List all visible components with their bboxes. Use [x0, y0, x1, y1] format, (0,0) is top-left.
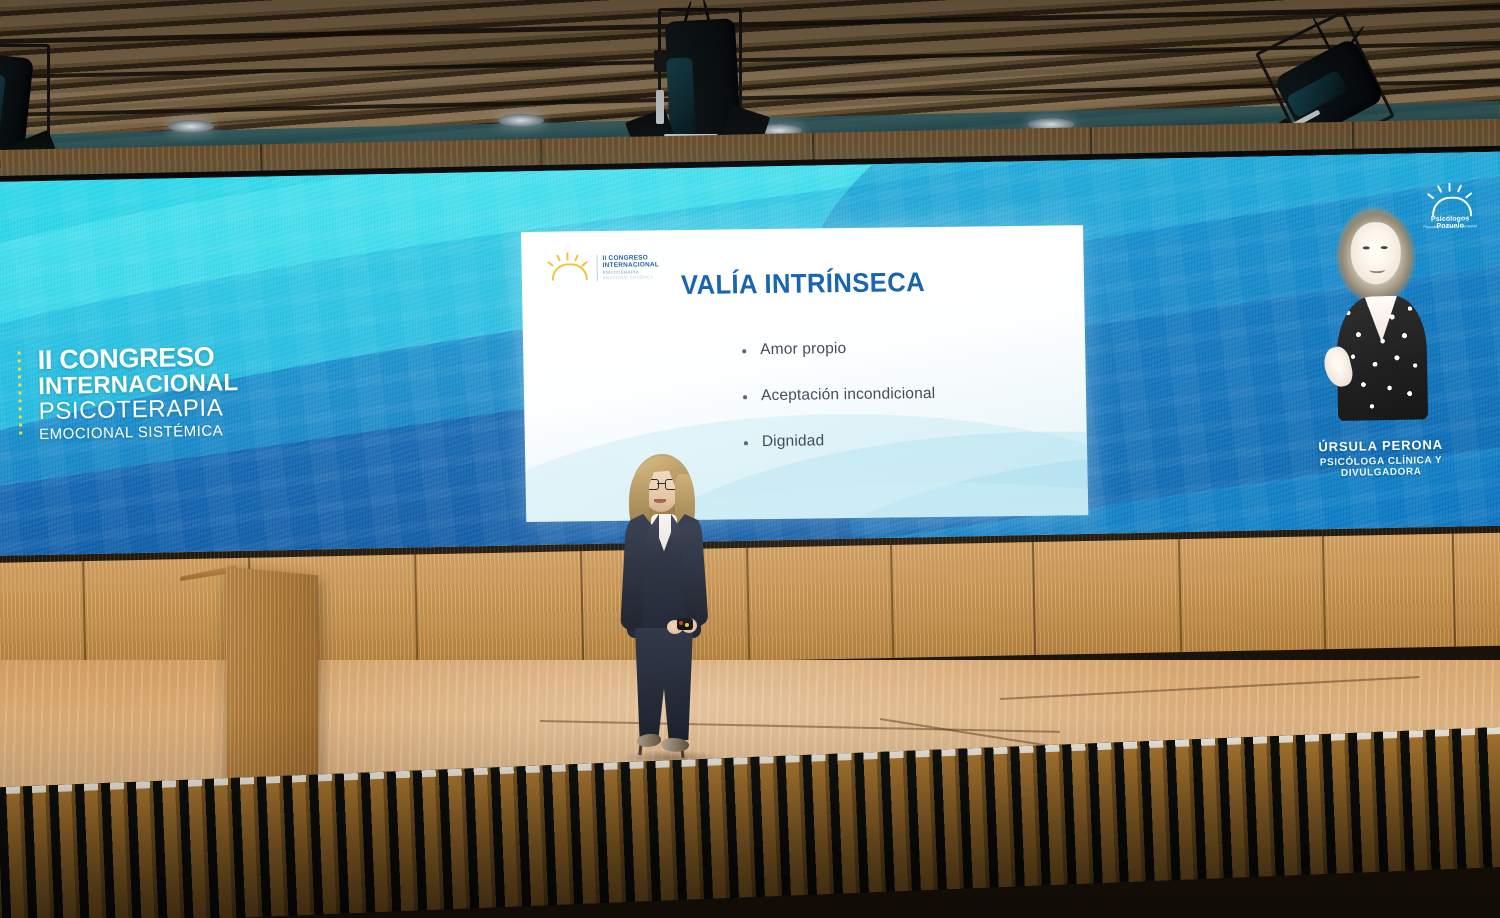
sun-ray	[547, 261, 554, 267]
speaker-eye	[1363, 246, 1370, 249]
sun-ray	[574, 254, 578, 261]
sun-icon	[1432, 196, 1472, 217]
sun-ray	[581, 261, 587, 267]
speaker-eye	[1381, 246, 1388, 249]
sun-ray	[566, 252, 568, 260]
sun-ray	[556, 255, 561, 262]
presenter-trousers	[635, 628, 693, 740]
speaker-role: PSICÓLOGA CLÍNICA Y DIVULGADORA	[1281, 454, 1481, 480]
slide-logo-line-2: INTERNACIONAL	[603, 261, 660, 269]
slide-bullet-item: Aceptación incondicional	[739, 383, 1069, 405]
clicker-button-yellow	[685, 623, 689, 627]
presentation-slide: II CONGRESO INTERNACIONAL PSICOTERAPIA E…	[521, 225, 1088, 522]
spotlight-bracket	[656, 90, 664, 124]
sun-ray	[1437, 185, 1442, 193]
sun-ray	[1457, 184, 1462, 192]
speaker-mouth	[1369, 266, 1385, 273]
slide-title: VALÍA INTRÍNSECA	[536, 265, 1070, 303]
ceiling-downlight	[498, 114, 544, 127]
clicker-button-red	[679, 621, 683, 625]
slide-bullet-item: Dignidad	[740, 429, 1070, 451]
ceiling-downlight	[168, 120, 214, 133]
slide-bullet-item: Amor propio	[738, 337, 1068, 359]
presenter-mouth	[654, 499, 666, 503]
sun-ray	[1448, 183, 1450, 192]
congress-title-block: II CONGRESO INTERNACIONAL PSICOTERAPIA E…	[17, 341, 349, 444]
pozuelo-logo: Psicólogos Pozuelo Psicología, salud y b…	[1418, 180, 1481, 225]
accent-dotted-divider	[18, 351, 23, 437]
presenter-figure	[613, 452, 723, 772]
glasses-bridge	[657, 483, 665, 485]
speaker-portrait	[1320, 199, 1434, 419]
slide-bullet-list: Amor propio Aceptación incondicional Dig…	[738, 337, 1071, 479]
sun-ray	[1465, 192, 1472, 199]
sun-ray	[1427, 193, 1435, 199]
spotlight-lens	[666, 57, 696, 134]
presentation-clicker	[677, 618, 693, 630]
conference-stage-photo: II CONGRESO INTERNACIONAL PSICOTERAPIA E…	[0, 0, 1500, 918]
